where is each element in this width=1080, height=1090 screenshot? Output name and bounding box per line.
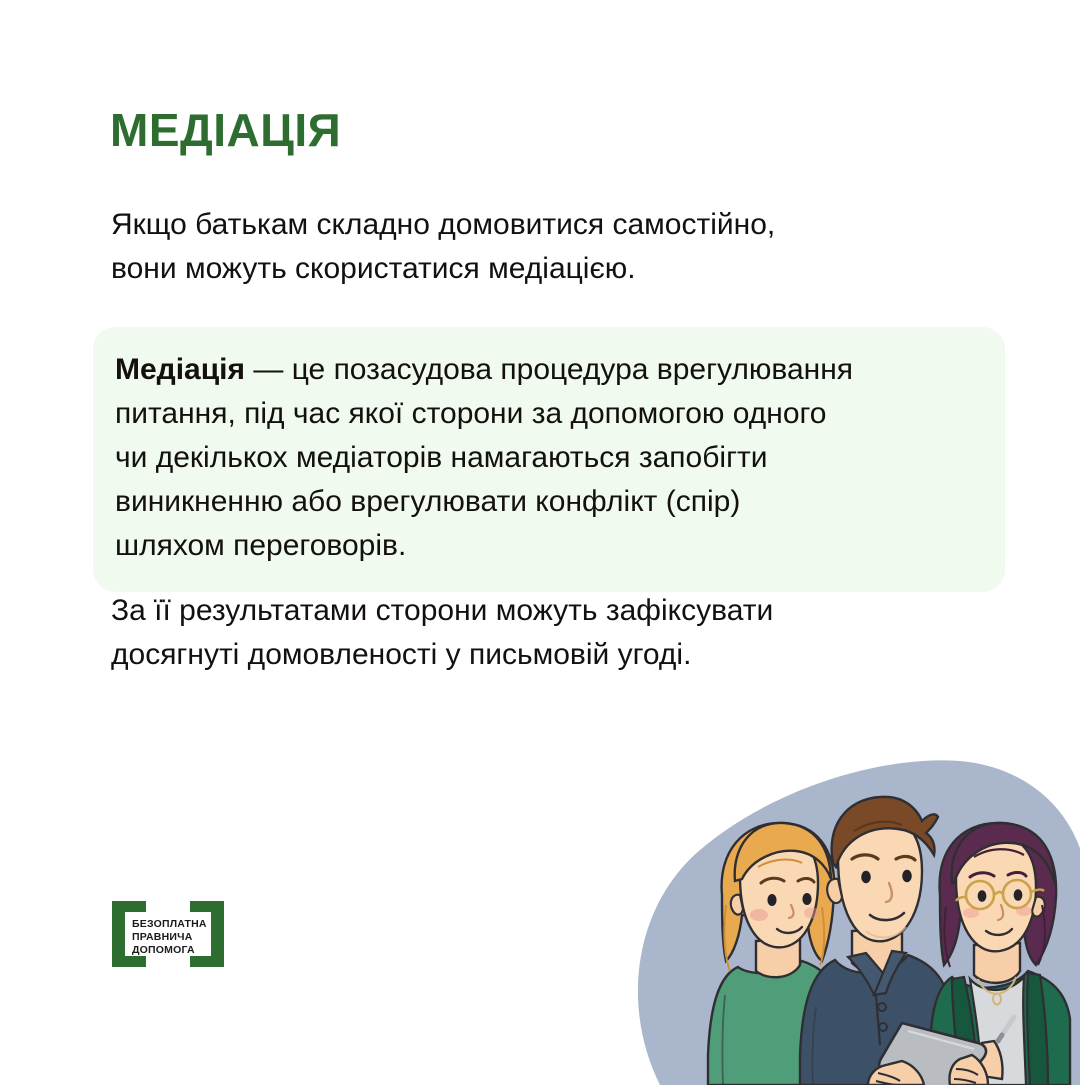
logo[interactable]: БЕЗОПЛАТНА ПРАВНИЧА ДОПОМОГА	[112, 901, 224, 967]
illustration	[630, 755, 1080, 1085]
three-people-with-tablet-illustration	[630, 755, 1080, 1085]
intro-paragraph: Якщо батькам складно домовитися самостій…	[111, 203, 951, 291]
definition-paragraph: Медіація — це позасудова процедура врегу…	[115, 348, 975, 568]
logo-line-3: ДОПОМОГА	[132, 944, 195, 956]
outro-paragraph: За її результатами сторони можуть зафікс…	[111, 589, 951, 677]
definition-callout-box: Медіація — це позасудова процедура врегу…	[93, 327, 1005, 592]
logo-line-2: ПРАВНИЧА	[132, 931, 193, 943]
poster-page: МЕДІАЦІЯ Якщо батькам складно домовитися…	[0, 0, 1080, 1080]
page-title: МЕДІАЦІЯ	[110, 105, 341, 156]
definition-term: Медіація	[115, 353, 245, 386]
logo-mark-icon: БЕЗОПЛАТНА ПРАВНИЧА ДОПОМОГА	[112, 901, 224, 967]
logo-line-1: БЕЗОПЛАТНА	[132, 918, 207, 930]
figures-group	[708, 797, 1070, 1085]
